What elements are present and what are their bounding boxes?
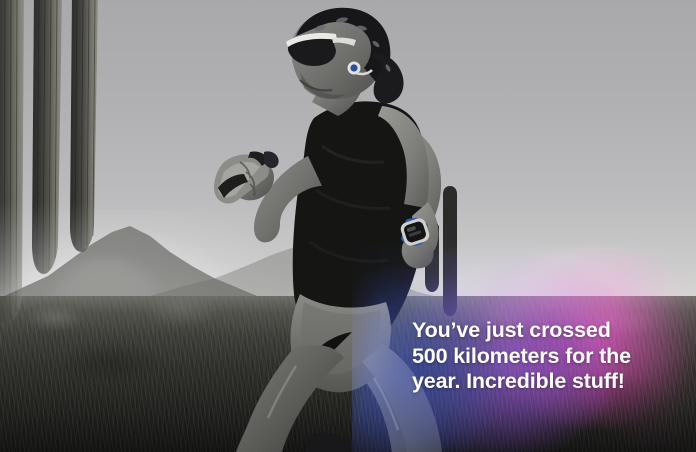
achievement-caption: You’ve just crossed 500 kilometers for t… bbox=[412, 318, 672, 395]
caption-line-1: You’ve just crossed bbox=[412, 318, 672, 344]
caption-line-2: 500 kilometers for the bbox=[412, 344, 672, 370]
achievement-banner: You’ve just crossed 500 kilometers for t… bbox=[0, 0, 696, 452]
saguaro-cactus-left-icon bbox=[0, 0, 118, 354]
caption-line-3: year. Incredible stuff! bbox=[412, 369, 672, 395]
